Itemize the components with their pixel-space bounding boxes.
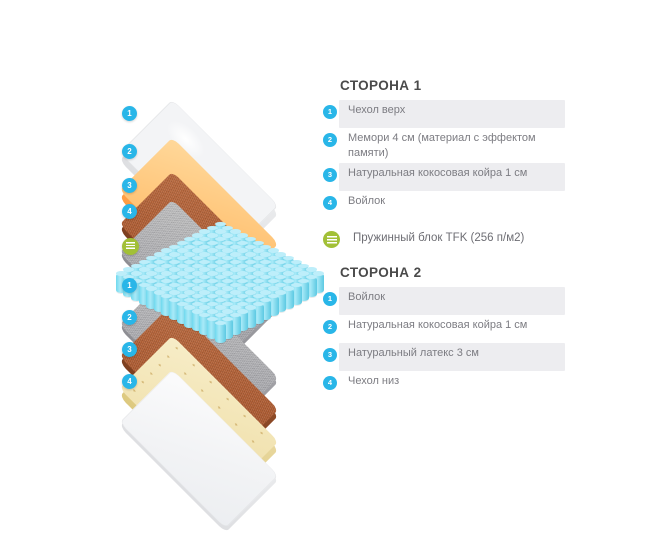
illustration-badge-top-2: 2 <box>122 144 137 159</box>
legend-label-latex: Натуральный латекс 3 см <box>348 346 487 361</box>
diagram-canvas: 1 2 3 4 1 2 3 4 СТО <box>0 0 672 504</box>
legend-title-side2: СТОРОНА 2 <box>340 265 575 280</box>
legend-label-cover-top: Чехол верх <box>348 103 413 118</box>
legend-badge-3: 3 <box>323 348 337 362</box>
legend-label-spring-block: Пружинный блок TFK (256 п/м2) <box>353 231 532 246</box>
legend-spacer <box>335 256 575 265</box>
legend-row-side2-1: 1 Войлок <box>335 287 575 315</box>
illustration-badge-bottom-2: 2 <box>122 310 137 325</box>
layer-spring-block <box>114 222 326 296</box>
illustration-badge-top-4: 4 <box>122 204 137 219</box>
legend-badge-2: 2 <box>323 133 337 147</box>
legend-title-side1: СТОРОНА 1 <box>340 78 575 93</box>
illustration-badge-bottom-4: 4 <box>122 374 137 389</box>
illustration-badge-bottom-1: 1 <box>122 278 137 293</box>
legend-label-coir-top: Натуральная кокосовая койра 1 см <box>348 166 535 181</box>
spring-block-icon <box>323 231 340 248</box>
legend-badge-2: 2 <box>323 320 337 334</box>
illustration-badge-bottom-3: 3 <box>122 342 137 357</box>
legend-row-side2-3: 3 Натуральный латекс 3 см <box>335 343 575 371</box>
legend-label-memory-foam: Мемори 4 см (материал с эффектом памяти) <box>348 131 575 160</box>
mattress-layers-illustration: 1 2 3 4 1 2 3 4 <box>96 86 326 396</box>
legend-badge-4: 4 <box>323 196 337 210</box>
legend-row-side2-2: 2 Натуральная кокосовая койра 1 см <box>335 315 575 343</box>
legend-row-side1-3: 3 Натуральная кокосовая койра 1 см <box>335 163 575 191</box>
illustration-badge-spring-block <box>122 238 139 255</box>
legend-row-spring-block: Пружинный блок TFK (256 п/м2) <box>335 228 575 256</box>
legend-label-felt-bottom: Войлок <box>348 290 393 305</box>
legend-row-side1-4: 4 Войлок <box>335 191 575 219</box>
legend-row-side1-2: 2 Мемори 4 см (материал с эффектом памят… <box>335 128 575 163</box>
legend-row-side2-4: 4 Чехол низ <box>335 371 575 399</box>
legend-badge-1: 1 <box>323 292 337 306</box>
illustration-badge-top-3: 3 <box>122 178 137 193</box>
legend-badge-3: 3 <box>323 168 337 182</box>
illustration-badge-top-1: 1 <box>122 106 137 121</box>
legend-badge-1: 1 <box>323 105 337 119</box>
legend-label-coir-bottom: Натуральная кокосовая койра 1 см <box>348 318 535 333</box>
legend-row-side1-1: 1 Чехол верх <box>335 100 575 128</box>
legend-label-cover-bottom: Чехол низ <box>348 374 407 389</box>
legend-badge-4: 4 <box>323 376 337 390</box>
legend-spacer <box>335 219 575 228</box>
legend-label-felt-top: Войлок <box>348 194 393 209</box>
legend-panel: СТОРОНА 1 1 Чехол верх 2 Мемори 4 см (ма… <box>335 78 575 399</box>
